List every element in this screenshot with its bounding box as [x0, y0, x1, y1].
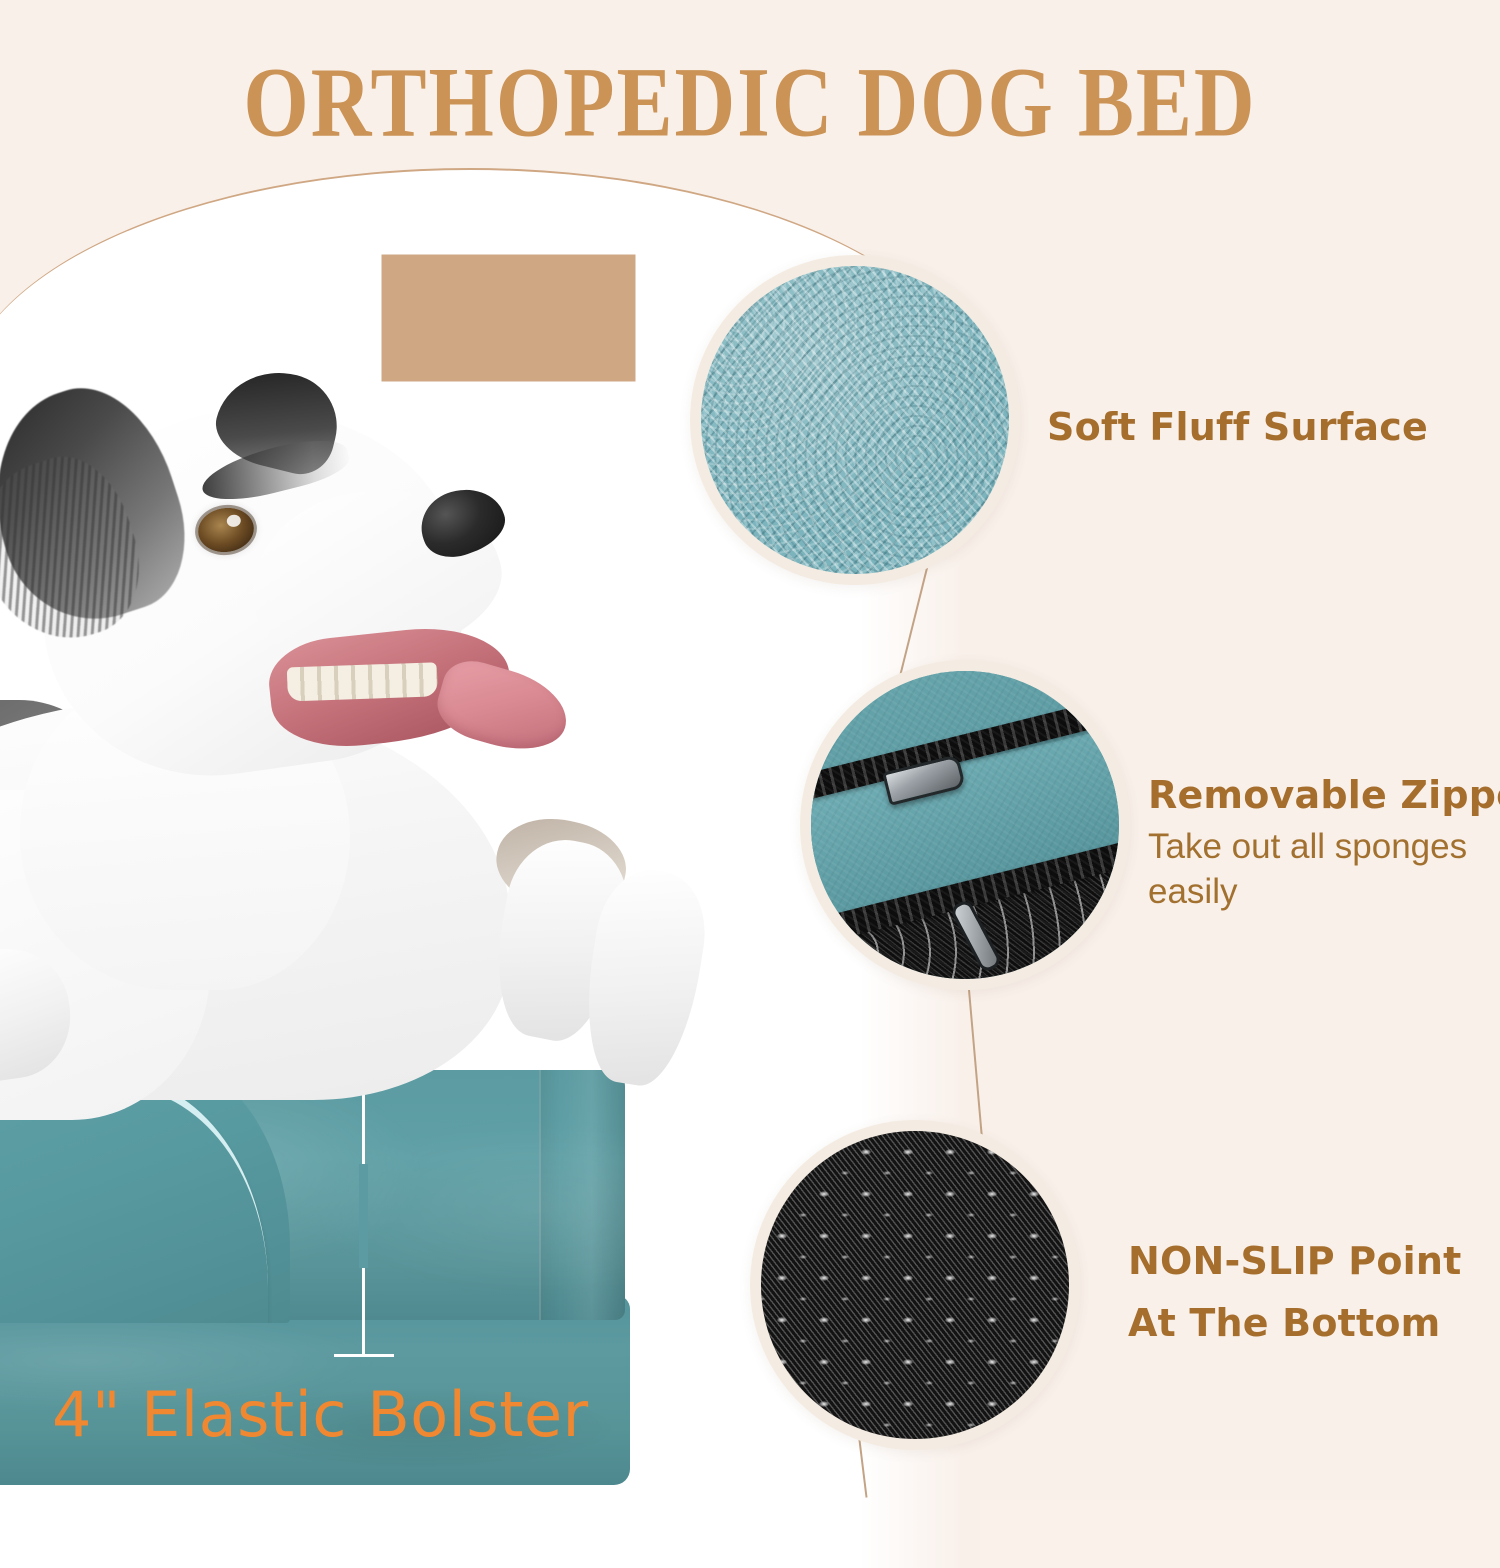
bed-mattress-seam — [539, 1070, 625, 1320]
swatch-zipper-image — [811, 671, 1119, 979]
height-dimension-ruler — [362, 1072, 365, 1357]
bolster-caption: 4" Elastic Bolster — [52, 1378, 589, 1451]
swatch-fluff-image — [701, 266, 1009, 574]
feature-heading-soft-fluff: Soft Fluff Surface — [1047, 404, 1428, 452]
non-slip-dotted-fabric-swatch — [761, 1131, 1069, 1439]
non-slip-dot-row-offset — [761, 1131, 1069, 1439]
feature-label-soft-fluff: Soft Fluff Surface — [1047, 404, 1428, 452]
feature-label-removable-zipper: Removable Zipper Take out all sponges ea… — [1148, 772, 1500, 915]
dog-photo — [0, 370, 660, 1090]
teal-fluff-fabric-swatch — [701, 266, 1009, 574]
page-title: ORTHOPEDIC DOG BED — [0, 46, 1500, 160]
ruler-label-gap — [359, 1164, 368, 1268]
dog-teeth — [287, 662, 438, 701]
dog-tongue — [430, 654, 576, 763]
callout-removable-zipper — [800, 660, 1130, 990]
feature-subtext-removable-zipper: Take out all sponges easily — [1148, 824, 1468, 915]
infographic-canvas: ORTHOPEDIC DOG BED — [0, 0, 1500, 1500]
feature-heading-non-slip-line2: At The Bottom — [1128, 1300, 1461, 1348]
zipper-closeup-swatch — [811, 671, 1119, 979]
feature-heading-non-slip-line1: NON-SLIP Point — [1128, 1238, 1461, 1286]
feature-label-non-slip: NON-SLIP Point At The Bottom — [1128, 1238, 1461, 1348]
feature-heading-removable-zipper: Removable Zipper — [1148, 772, 1500, 820]
ruler-cap-bottom — [334, 1354, 394, 1357]
callout-soft-fluff-surface — [690, 255, 1020, 585]
swatch-nonslip-image — [761, 1131, 1069, 1439]
callout-non-slip-bottom — [750, 1120, 1080, 1450]
